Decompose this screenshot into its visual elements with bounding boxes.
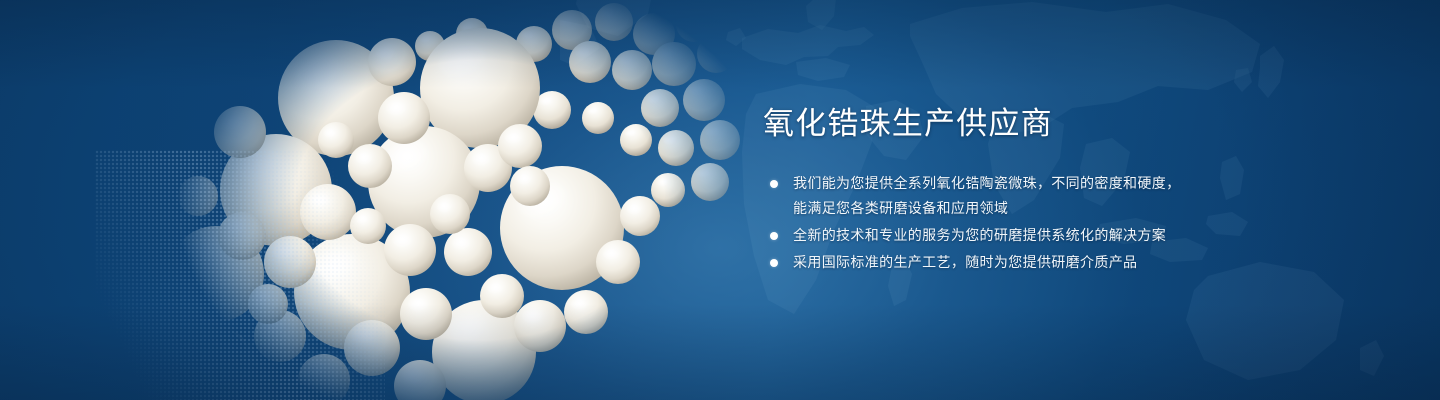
list-item-line: 全新的技术和专业的服务为您的研磨提供系统化的解决方案 — [793, 223, 1363, 248]
bullet-dot-icon — [770, 259, 778, 267]
bullet-dot-icon — [770, 180, 778, 188]
bullet-dot-icon — [770, 232, 778, 240]
list-item-line: 采用国际标准的生产工艺，随时为您提供研磨介质产品 — [793, 250, 1363, 275]
hero-banner: 氧化锆珠生产供应商 我们能为您提供全系列氧化锆陶瓷微珠，不同的密度和硬度， 能满… — [0, 0, 1440, 400]
page-title: 氧化锆珠生产供应商 — [763, 104, 1363, 144]
list-item-line: 我们能为您提供全系列氧化锆陶瓷微珠，不同的密度和硬度， — [793, 171, 1363, 196]
list-item: 全新的技术和专业的服务为您的研磨提供系统化的解决方案 — [763, 223, 1363, 248]
list-item: 采用国际标准的生产工艺，随时为您提供研磨介质产品 — [763, 250, 1363, 275]
list-item-line: 能满足您各类研磨设备和应用领域 — [793, 196, 1363, 221]
list-item: 我们能为您提供全系列氧化锆陶瓷微珠，不同的密度和硬度， 能满足您各类研磨设备和应… — [763, 171, 1363, 221]
banner-copy: 氧化锆珠生产供应商 我们能为您提供全系列氧化锆陶瓷微珠，不同的密度和硬度， 能满… — [763, 104, 1363, 277]
feature-list: 我们能为您提供全系列氧化锆陶瓷微珠，不同的密度和硬度， 能满足您各类研磨设备和应… — [763, 171, 1363, 275]
